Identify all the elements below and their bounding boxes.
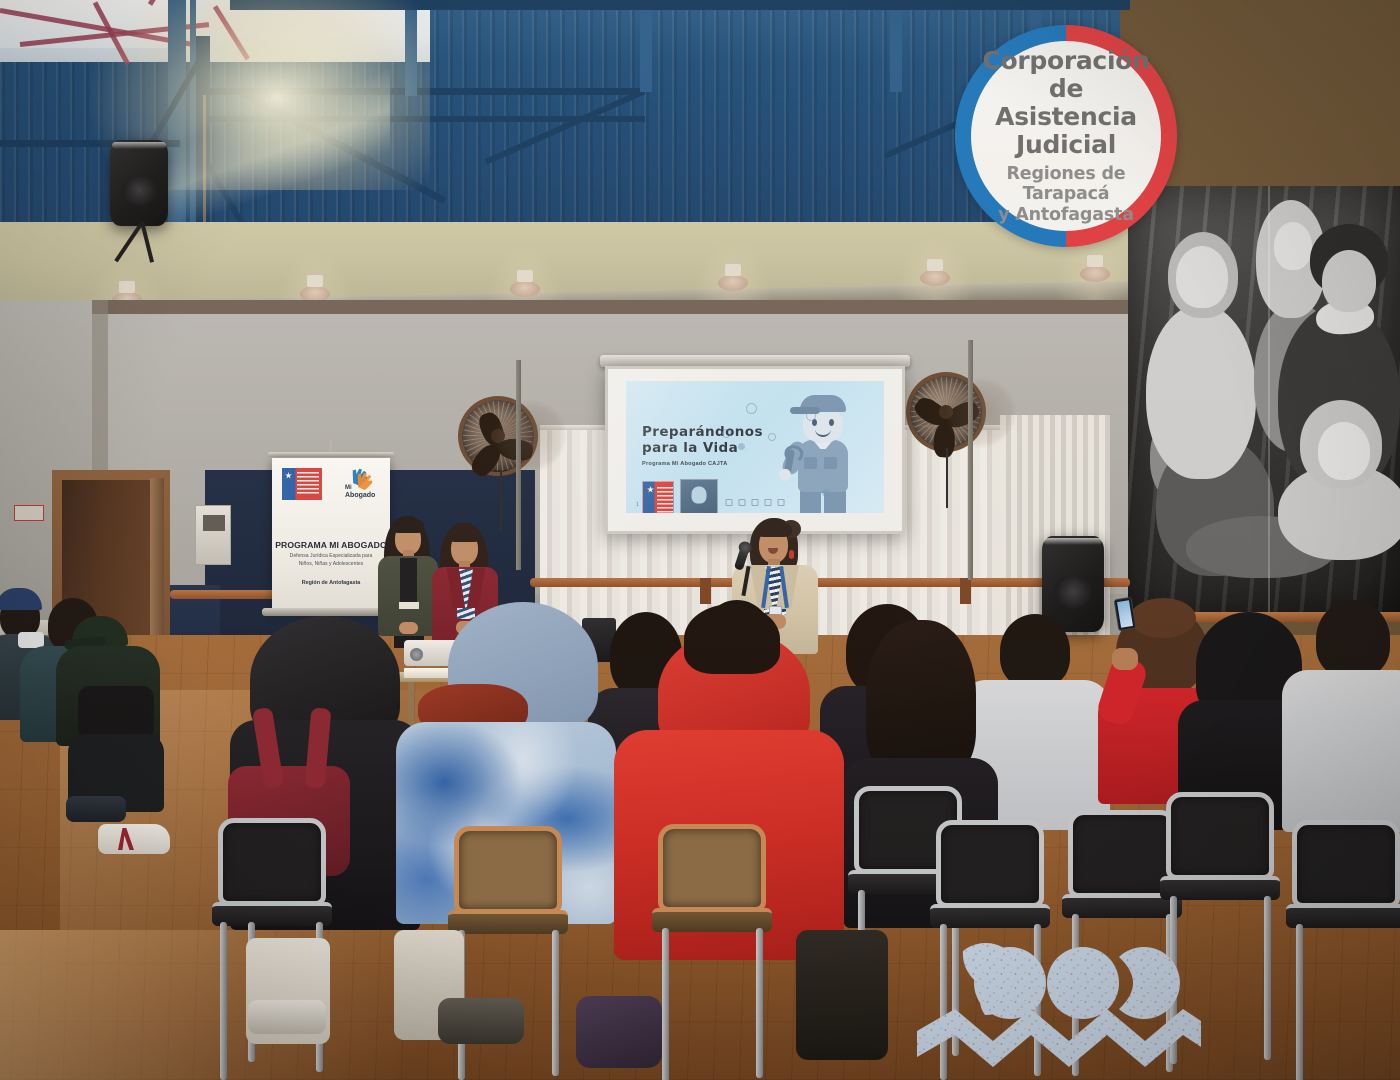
chair-leg: [940, 924, 947, 1080]
chair: [1160, 792, 1280, 962]
chair-backrest: [1166, 792, 1274, 880]
projection-screen: Preparándonos para la Vida Programa Mi A…: [605, 366, 905, 534]
illustration-pocket: [804, 457, 817, 469]
toolbar-icon-pen[interactable]: [739, 499, 746, 506]
logo-subtitle-line1: Regiones de Tarapacá: [981, 164, 1151, 205]
logo-title-line1: Corporación: [981, 47, 1151, 75]
slide-toolbar[interactable]: [726, 499, 785, 506]
slide-page-number: 1: [636, 502, 639, 508]
logo-text-lines: [657, 487, 673, 513]
long-dark-hair: [866, 620, 976, 780]
steel-column: [640, 0, 652, 92]
chile-star-icon: [285, 472, 292, 479]
decorative-bubble: [768, 433, 776, 441]
audience-member: [62, 616, 168, 806]
illustration-pocket: [824, 457, 837, 469]
slide-subtitle: Programa Mi Abogado CAJTA: [642, 461, 728, 467]
mi-abogado-label-mi: Mi: [345, 485, 352, 491]
banner-subtitle: Defensa Jurídica Especializada para Niño…: [280, 553, 382, 569]
toolbar-icon-zoom[interactable]: [765, 499, 772, 506]
toolbar-icon-more[interactable]: [778, 499, 785, 506]
sneaker: [66, 796, 126, 822]
ballet-barre: [530, 578, 1130, 587]
mural-father-face: [1322, 250, 1376, 312]
toolbar-icon-pointer[interactable]: [726, 499, 733, 506]
slide-title-line1: Preparándonos: [642, 425, 763, 441]
mural-child-face: [1318, 422, 1370, 480]
logo-title-line2: de Asistencia: [981, 75, 1151, 131]
chair-seat: [652, 908, 772, 932]
banner-subtitle-line2: Niños, Niñas y Adolescentes: [280, 561, 382, 569]
decorative-bubble: [738, 443, 745, 450]
slide-title-line2: para la Vida: [642, 441, 763, 457]
chair-leg: [552, 930, 559, 1076]
chair-backrest: [936, 820, 1044, 908]
ballet-barre-left: [170, 590, 280, 599]
mural-teen-face: [1274, 222, 1312, 270]
logo-text-lines: [297, 472, 319, 496]
fan-pull-cord: [946, 448, 948, 508]
chair-leg: [1034, 924, 1041, 1076]
decorative-bubble: [722, 429, 731, 438]
speaker-highlight: [1044, 538, 1101, 545]
chair-leg: [756, 928, 763, 1078]
chair-leg: [220, 922, 227, 1080]
gobierno-de-chile-logo: [282, 468, 322, 500]
illustration-eye: [829, 419, 834, 426]
chair-seat: [212, 902, 332, 926]
chair-backrest: [218, 818, 326, 906]
wall-frame-top: [92, 300, 1132, 314]
banner-region: Región de Antofagasta: [272, 580, 390, 586]
chair-seat: [1160, 876, 1280, 900]
uplight-fixture: [718, 275, 748, 291]
mural-mother-body: [1146, 304, 1256, 479]
uplight-fixture: [510, 281, 540, 297]
barre-bracket: [960, 578, 971, 604]
logo-title: Corporación de Asistencia Judicial: [981, 47, 1151, 159]
fan-mounting-pole: [968, 340, 973, 580]
toolbar-icon-slides[interactable]: [752, 499, 759, 506]
logo-inner-circle: Corporación de Asistencia Judicial Regio…: [971, 41, 1161, 231]
mi-abogado-logo: [680, 479, 718, 513]
corporacion-logo-badge: Corporación de Asistencia Judicial Regio…: [955, 25, 1177, 247]
belt: [399, 602, 419, 609]
bag-on-floor: [576, 996, 662, 1068]
chair: [652, 824, 772, 994]
inner-top: [400, 558, 417, 602]
slide-title: Preparándonos para la Vida: [642, 425, 763, 457]
chair-backrest: [454, 826, 562, 914]
shoe: [438, 998, 524, 1044]
steel-truss-top: [230, 0, 1130, 10]
banner-subtitle-line1: Defensa Jurídica Especializada para: [280, 553, 382, 561]
steel-column: [890, 0, 902, 92]
chair-seat: [448, 910, 568, 934]
uplight-fixture: [920, 270, 950, 286]
chair-backrest: [1292, 820, 1400, 908]
speaker-highlight: [112, 142, 165, 149]
fan-mounting-pole: [516, 360, 521, 570]
banner-title: PROGRAMA MI ABOGADO: [272, 540, 390, 550]
hair-front: [448, 527, 481, 542]
chair-leg: [1264, 896, 1271, 1060]
chair-leg: [1296, 924, 1303, 1080]
bag: [78, 686, 154, 740]
rollup-banner: Mi Abogado PROGRAMA MI ABOGADO Defensa J…: [272, 458, 390, 610]
event-photograph: Preparándonos para la Vida Programa Mi A…: [0, 0, 1400, 1080]
logo-subtitle: Regiones de Tarapacá y Antofagasta: [981, 164, 1151, 225]
audience-member: [1290, 600, 1400, 830]
head: [1316, 600, 1390, 678]
exit-sign: [14, 505, 44, 521]
wall-mural-family-photo: [1128, 186, 1400, 616]
earring: [789, 550, 794, 559]
chair: [930, 820, 1050, 990]
hair-front: [756, 521, 792, 537]
head: [1000, 614, 1070, 688]
gobierno-de-chile-logo: [642, 481, 674, 513]
chair-leg: [1072, 914, 1079, 1076]
chair-seat: [1286, 904, 1400, 928]
trousers: [796, 930, 888, 1060]
banner-top-rod: [268, 452, 394, 457]
sneaker: [98, 824, 170, 854]
chair-leg: [662, 928, 669, 1080]
decorative-bubble: [806, 411, 816, 421]
mural-seam: [1268, 186, 1270, 616]
uplight-fixture: [1080, 266, 1110, 282]
fan-pull-cord: [500, 470, 502, 532]
mi-abogado-logo: Mi Abogado: [341, 468, 381, 504]
mural-mother-face: [1176, 246, 1228, 308]
chair: [1286, 820, 1400, 990]
presentation-slide: Preparándonos para la Vida Programa Mi A…: [626, 381, 884, 513]
pa-speaker: [110, 140, 168, 226]
steel-beam-horizontal: [205, 88, 645, 95]
chair-seat: [930, 904, 1050, 928]
fan-motion-blur: [495, 400, 567, 472]
decorative-bubble: [746, 403, 757, 414]
steel-column: [405, 0, 417, 96]
logo-subtitle-line2: y Antofagasta: [981, 205, 1151, 225]
wall-mounted-box: [195, 505, 231, 565]
head: [684, 604, 780, 674]
grey-sweatshirt: [1282, 670, 1400, 832]
shoe: [248, 1000, 326, 1034]
hand: [1112, 648, 1138, 670]
chair-backrest: [658, 824, 766, 912]
hand-icon-orange: [355, 472, 375, 490]
logo-title-line3: Judicial: [981, 131, 1151, 159]
fan-motion-blur: [946, 378, 1016, 448]
chair: [448, 826, 568, 996]
mi-abogado-label-abogado: Abogado: [345, 492, 375, 499]
decorative-bubble: [822, 489, 830, 497]
hair-front: [392, 518, 424, 533]
steel-column: [168, 0, 186, 250]
chair-leg: [1170, 896, 1177, 1064]
